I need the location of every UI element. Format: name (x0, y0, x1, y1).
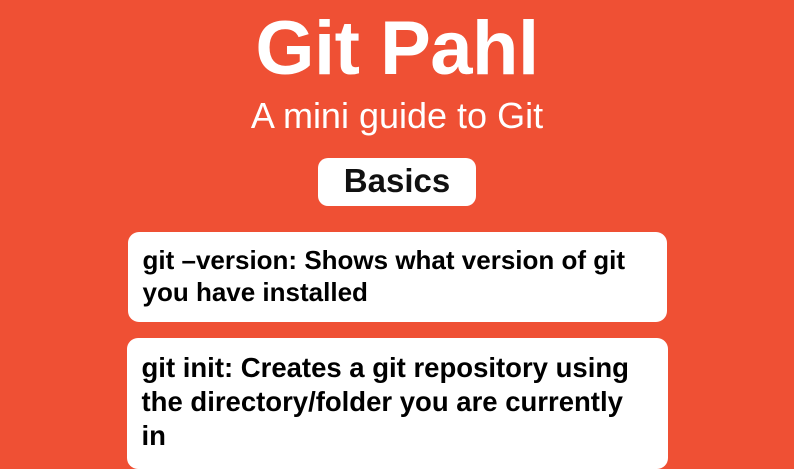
command-card-list: git –version: Shows what version of git … (0, 232, 794, 469)
page-subtitle: A mini guide to Git (251, 94, 543, 138)
slide-root: Git Pahl A mini guide to Git Basics git … (0, 0, 794, 437)
command-card: git init: Creates a git repository using… (127, 338, 668, 469)
page-title: Git Pahl (255, 6, 538, 92)
command-card: git –version: Shows what version of git … (128, 232, 667, 322)
section-badge-basics: Basics (318, 158, 476, 206)
